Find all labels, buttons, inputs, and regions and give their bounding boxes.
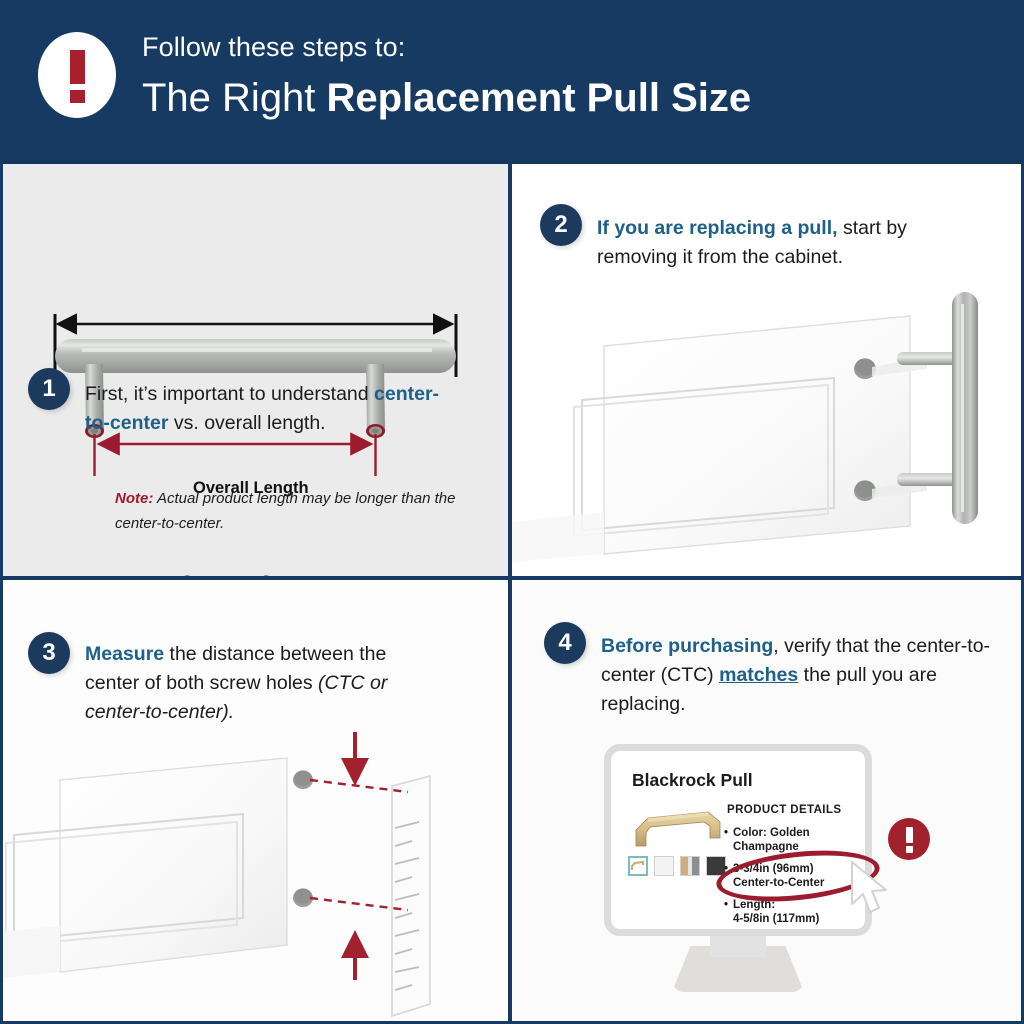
step-2-text: If you are replacing a pull, start by re… [597, 214, 957, 272]
step-2-accent: If you are replacing a pull, [597, 217, 838, 239]
measure-arrow-down [341, 732, 369, 786]
step-1-lead: First, it’s important to understand [85, 383, 374, 405]
step-4-accent: Before purchasing [601, 635, 773, 657]
step-number-3: 3 [28, 632, 70, 674]
thumbnail-0[interactable] [628, 856, 648, 876]
panel-step-3: 3 Measure the distance between the cente… [0, 580, 508, 1024]
infographic-root: Follow these steps to: The Right Replace… [0, 0, 1024, 1024]
divider-horizontal [0, 576, 1024, 580]
step-number-1: 1 [28, 368, 70, 410]
page-title-light: The Right [142, 76, 327, 120]
step-3-accent: Measure [85, 643, 164, 665]
panel-step-2: 2 If you are replacing a pull, start by … [512, 164, 1024, 576]
step-4-link[interactable]: matches [719, 664, 798, 686]
bullet-color: •Color: Golden Champagne [724, 826, 810, 854]
page-title-bold: Replacement Pull Size [327, 76, 752, 120]
header-kicker: Follow these steps to: [142, 32, 405, 63]
exclamation-icon [38, 32, 116, 118]
arrow-cursor [848, 860, 898, 920]
monitor-neck [710, 935, 766, 957]
alert-exclamation-icon [888, 818, 930, 860]
product-title: Blackrock Pull [632, 770, 753, 791]
step-1-text: First, it’s important to understand cent… [85, 380, 455, 438]
step-3-text: Measure the distance between the center … [85, 640, 445, 727]
step-number-4: 4 [544, 622, 586, 664]
divider-vertical [508, 160, 512, 1024]
note-text: Actual product length may be longer than… [115, 490, 455, 532]
step-4-text: Before purchasing, verify that the cente… [601, 632, 991, 719]
product-hero-image [628, 800, 728, 855]
step-1-tail: vs. overall length. [168, 412, 325, 434]
thumbnail-2[interactable] [680, 856, 700, 876]
note-label: Note: [115, 490, 153, 507]
panel-1-note: Note: Actual product length may be longe… [115, 486, 475, 536]
measure-arrow-up [341, 930, 369, 980]
page-title: The Right Replacement Pull Size [142, 76, 751, 121]
header-banner: Follow these steps to: The Right Replace… [0, 0, 1024, 160]
bullet-length: •Length: 4-5/8in (117mm) [724, 898, 819, 926]
thumbnail-1[interactable] [654, 856, 674, 876]
frame-edge-left [0, 160, 3, 1024]
product-details-heading: PRODUCT DETAILS [727, 804, 841, 816]
step-number-2: 2 [540, 204, 582, 246]
